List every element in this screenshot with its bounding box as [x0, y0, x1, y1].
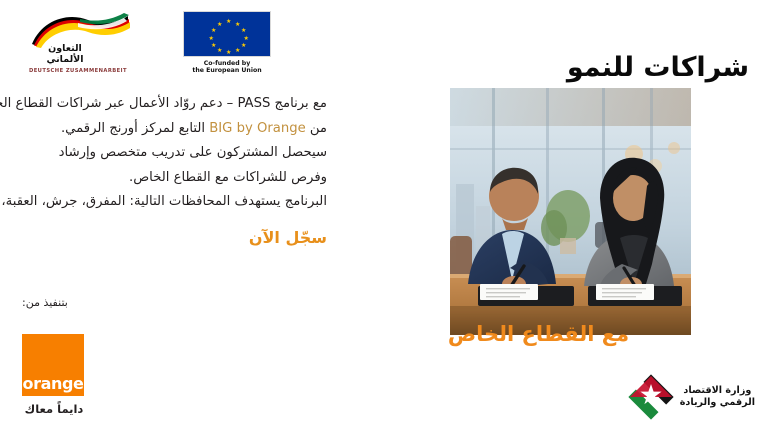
ministry-logo: وزارة الاقتصاد الرقمي والريادة: [628, 374, 755, 420]
orange-tagline: دايماً معاك: [18, 402, 90, 416]
body-line-2: من BIG by Orange التابع لمركز أورنج الرق…: [0, 117, 327, 142]
body-line-1: مع برنامج PASS – دعم روّاد الأعمال عبر ش…: [0, 92, 327, 117]
european-union-logo: ★ ★ ★ ★ ★ ★ ★ ★ ★ ★ ★ ★ Co-funded by the…: [174, 11, 280, 77]
orange-logo: orange™: [22, 334, 84, 396]
page-title: شراكات للنمو: [567, 52, 749, 83]
body-line-2-suffix: التابع لمركز أورنج الرقمي.: [61, 121, 209, 136]
orange-logo-wordmark: orange™: [23, 375, 84, 396]
eu-caption: Co-funded by the European Union: [174, 60, 280, 75]
photo-caption: مع القطاع الخاص: [386, 322, 691, 346]
partnership-signing-photo: [450, 88, 691, 335]
body-copy: مع برنامج PASS – دعم روّاد الأعمال عبر ش…: [0, 92, 327, 215]
body-line-5: البرنامج يستهدف المحافظات التالية: المفر…: [0, 190, 327, 215]
german-cooperation-arabic: التعاون الألماني: [30, 44, 100, 65]
implementer-label: بتنفيذ من:: [22, 296, 68, 309]
trademark-icon: ™: [86, 374, 91, 392]
body-line-2-prefix: من: [306, 121, 327, 136]
german-cooperation-german-text: DEUTSCHE ZUSAMMENARBEIT: [24, 68, 132, 74]
german-cooperation-logo: التعاون الألماني DEUTSCHE ZUSAMMENARBEIT: [22, 8, 134, 80]
big-by-orange-brand: BIG by Orange: [209, 121, 305, 136]
body-line-4: وفرص للشراكات مع القطاع الخاص.: [0, 166, 327, 191]
ministry-name: وزارة الاقتصاد الرقمي والريادة: [680, 385, 755, 408]
body-line-3: سيحصل المشتركون على تدريب متخصص وإرشاد: [0, 141, 327, 166]
register-now-cta[interactable]: سجّل الآن: [0, 228, 327, 247]
poster-canvas: التعاون الألماني DEUTSCHE ZUSAMMENARBEIT…: [0, 0, 767, 432]
jordan-flag-diamond-emblem-icon: [628, 374, 674, 420]
eu-flag-icon: ★ ★ ★ ★ ★ ★ ★ ★ ★ ★ ★ ★: [183, 11, 271, 57]
photo-artwork: [450, 88, 691, 335]
